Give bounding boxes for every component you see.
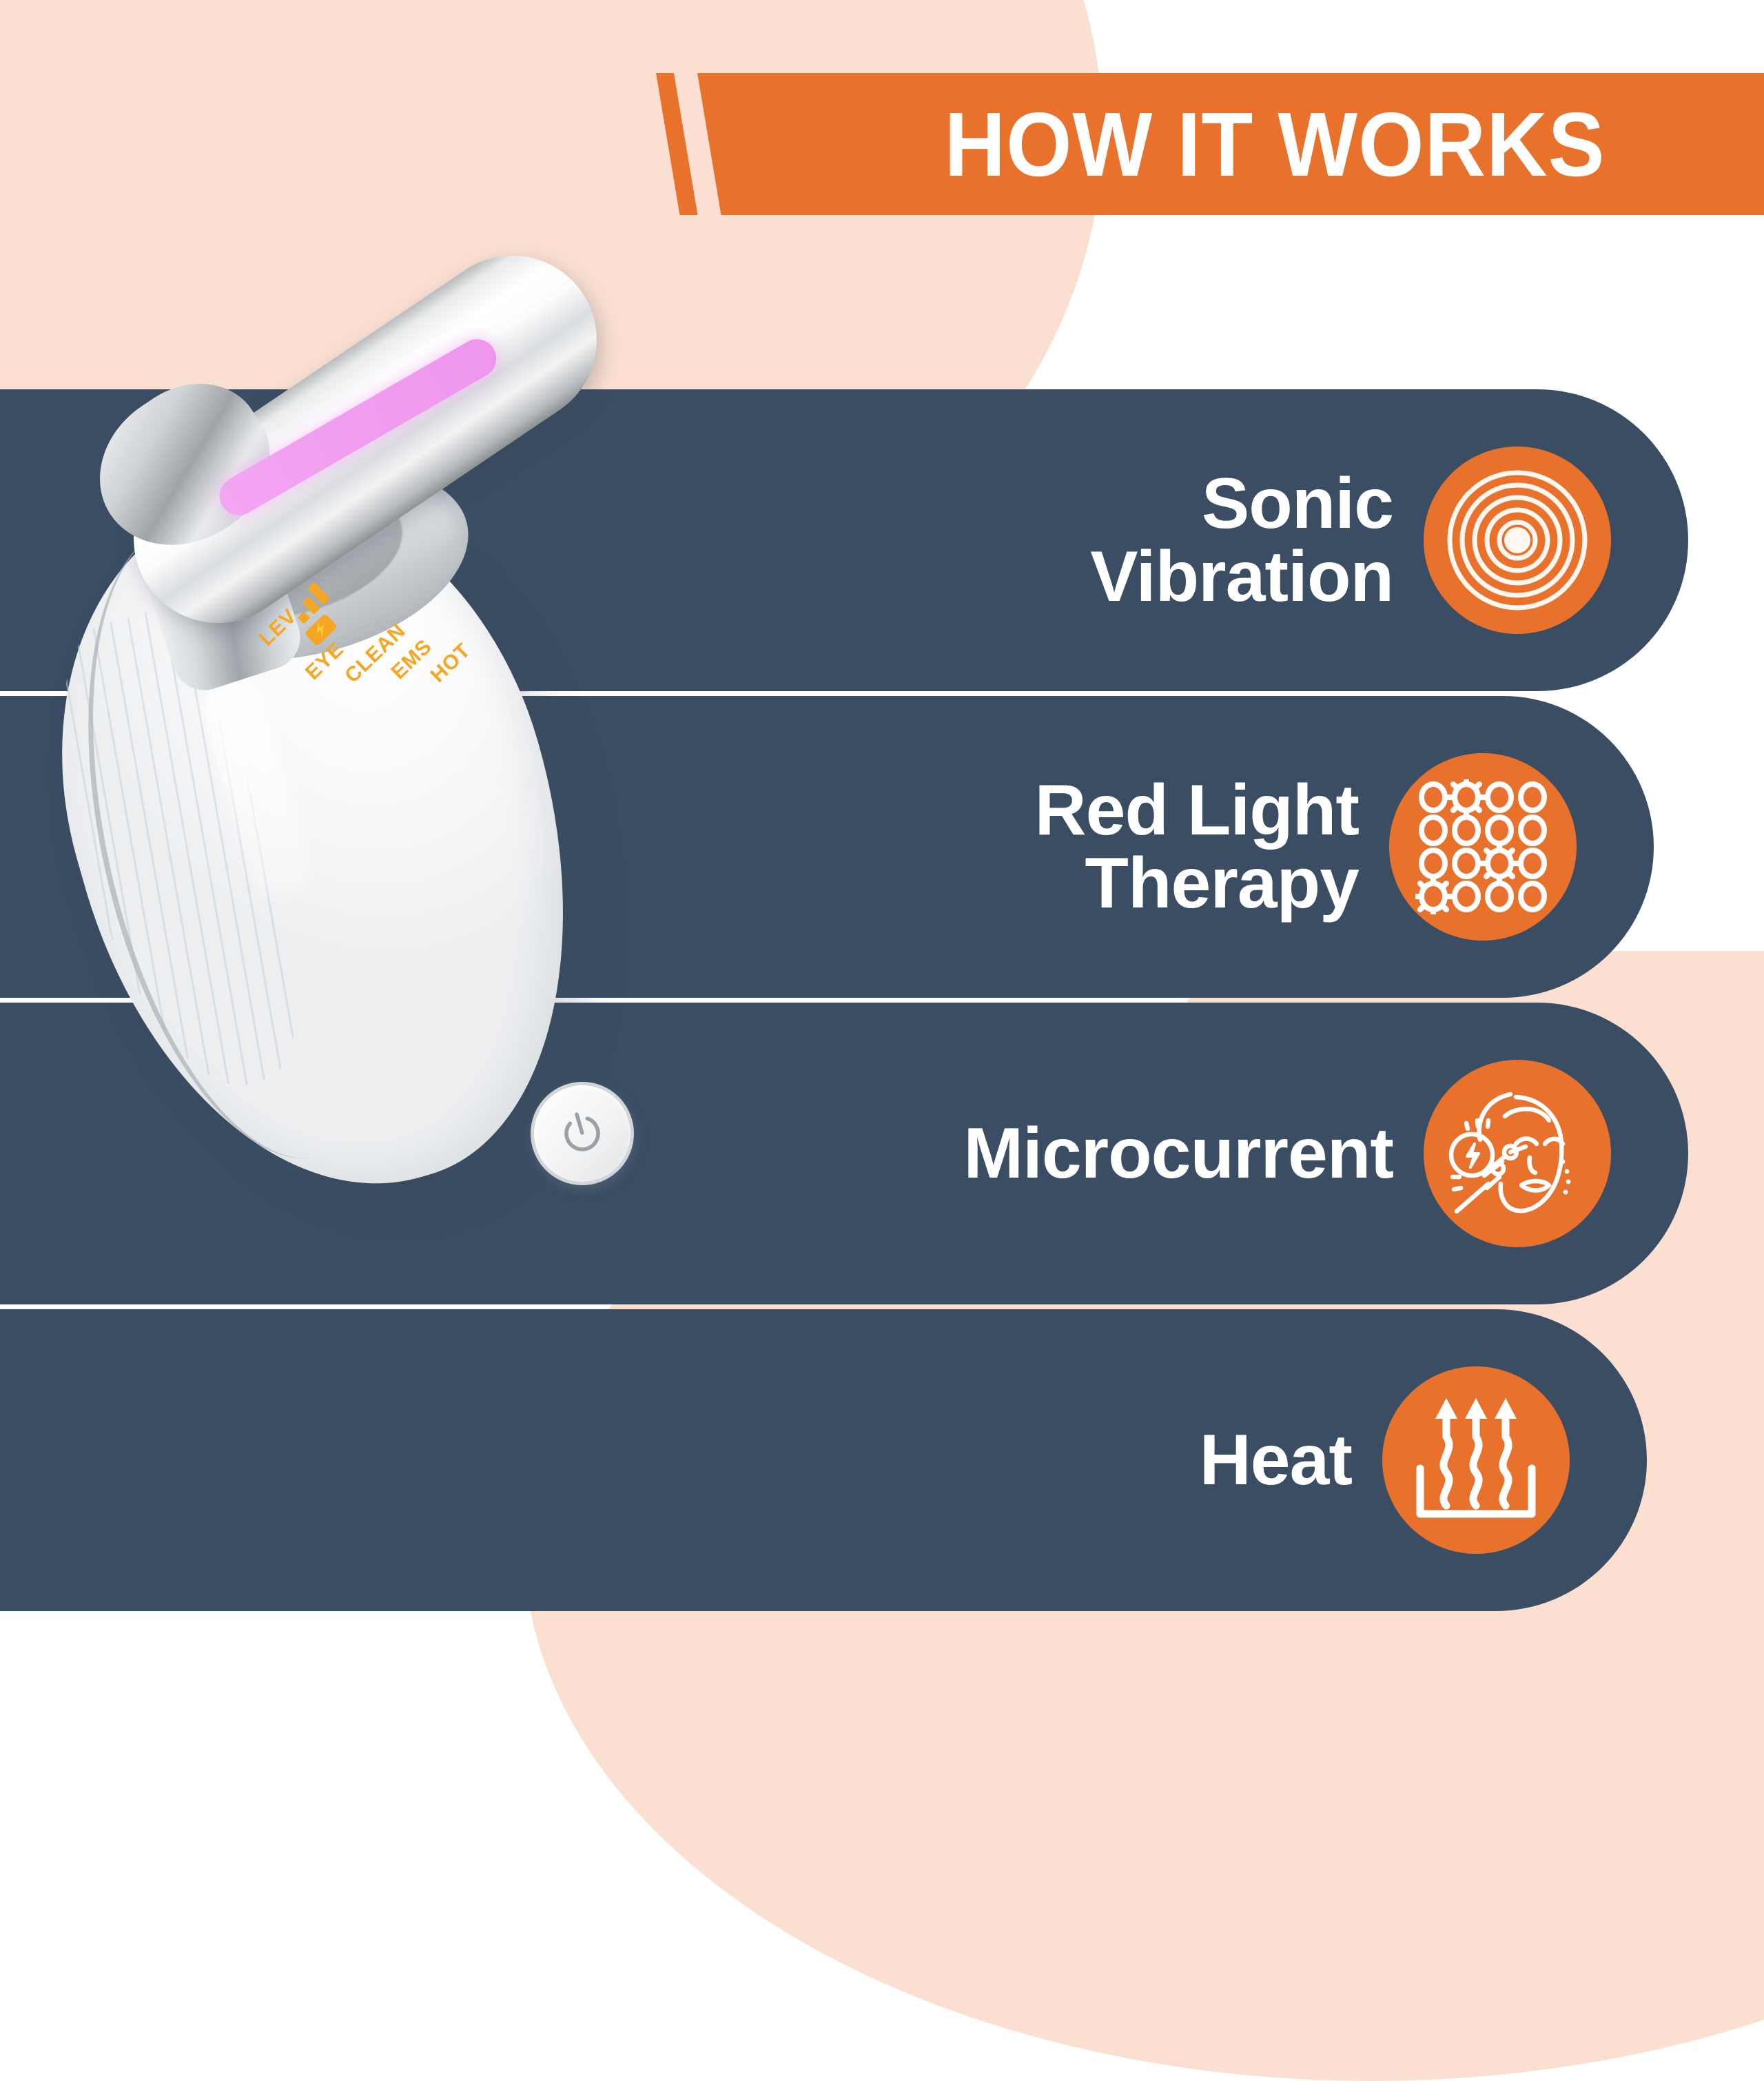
infographic-canvas: HOW IT WORKS Sonic Vibration Red Light T… (0, 0, 1764, 1764)
product-device-illustration: LEV ⚡ EYE CLEAN EMS HOT (0, 289, 813, 1764)
microcurrent-face-icon (1424, 1060, 1611, 1247)
feature-label-microcurrent: Microcurrent (963, 1117, 1393, 1190)
header-banner: HOW IT WORKS (0, 0, 1764, 227)
feature-label-red-light-therapy: Red Light Therapy (1035, 774, 1359, 920)
sonic-waves-icon (1424, 447, 1611, 634)
feature-label-sonic-vibration: Sonic Vibration (1090, 467, 1393, 613)
feature-label-heat: Heat (1200, 1424, 1352, 1497)
page-title: HOW IT WORKS (845, 73, 1704, 215)
heat-waves-icon (1382, 1366, 1570, 1554)
power-button[interactable] (518, 1069, 646, 1198)
power-symbol-icon (551, 1102, 614, 1165)
led-grid-icon (1389, 753, 1577, 941)
header-accent-stripe (656, 73, 697, 215)
battery-bolt-glyph: ⚡ (311, 619, 331, 640)
